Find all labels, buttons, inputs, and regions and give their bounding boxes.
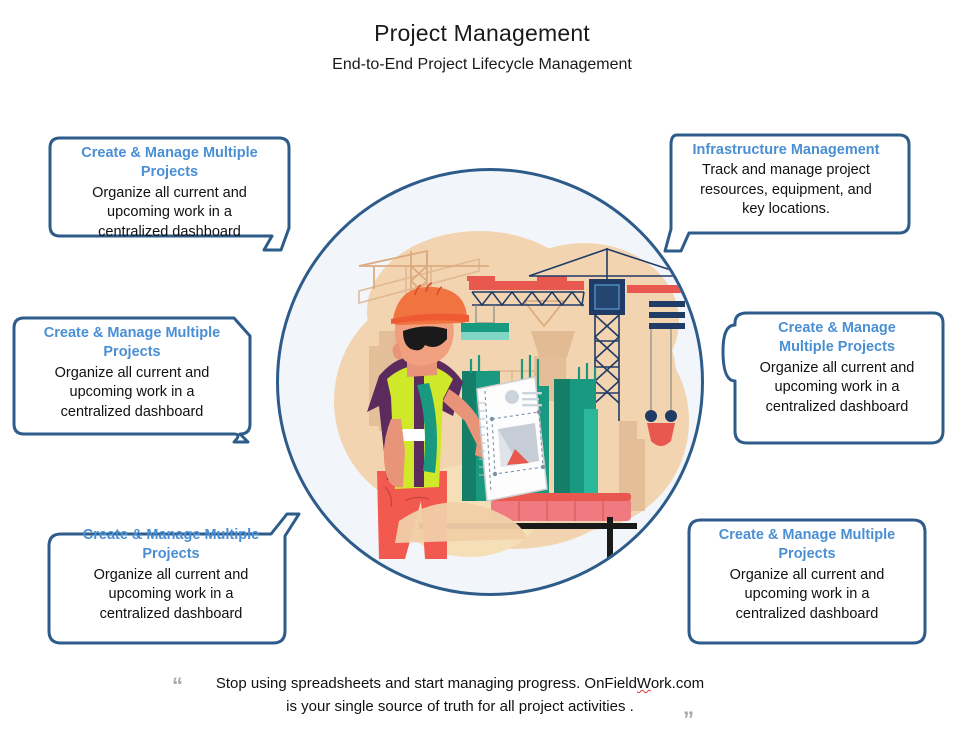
slide-canvas: Project Management End-to-End Project Li… xyxy=(0,0,964,734)
callout-heading: Create & Manage Multiple Projects xyxy=(697,526,917,565)
callout-bottom-right[interactable]: Create & Manage Multiple Projects Organi… xyxy=(687,518,927,645)
quote-line-2: is your single source of truth for all p… xyxy=(150,695,770,718)
quote-line1-after: ork.com xyxy=(651,675,704,692)
callout-body: Organize all current and upcoming work i… xyxy=(58,184,281,243)
center-illustration-circle xyxy=(276,168,704,596)
page-title: Project Management xyxy=(0,20,964,47)
callout-body: Track and manage project resources, equi… xyxy=(671,161,901,220)
callout-heading: Infrastructure Management xyxy=(671,141,901,160)
callout-bottom-left[interactable]: Create & Manage Multiple Projects Organi… xyxy=(47,518,295,645)
callout-top-left[interactable]: Create & Manage Multiple Projects Organi… xyxy=(48,136,291,252)
callout-heading: Create & Manage Multiple Projects xyxy=(57,526,285,565)
callout-heading: Create & Manage Multiple Projects xyxy=(58,144,281,183)
callout-body: Organize all current and upcoming work i… xyxy=(57,566,285,625)
footer-quote: “ Stop using spreadsheets and start mana… xyxy=(150,672,770,719)
quote-misspelled-word: W xyxy=(637,675,651,692)
quote-line1-before: Stop using spreadsheets and start managi… xyxy=(216,675,637,692)
page-subtitle: End-to-End Project Lifecycle Management xyxy=(0,56,964,74)
callout-mid-left[interactable]: Create & Manage Multiple Projects Organi… xyxy=(12,316,252,444)
callout-heading: Create & Manage Multiple Projects xyxy=(737,319,937,358)
quote-line-1: Stop using spreadsheets and start managi… xyxy=(150,672,770,695)
callout-top-right[interactable]: Infrastructure Management Track and mana… xyxy=(661,133,911,245)
callout-heading: Create & Manage Multiple Projects xyxy=(22,324,242,363)
construction-worker-reading-blueprint-icon xyxy=(279,171,704,596)
callout-body: Organize all current and upcoming work i… xyxy=(737,359,937,418)
callout-mid-right[interactable]: Create & Manage Multiple Projects Organi… xyxy=(727,311,947,446)
callout-body: Organize all current and upcoming work i… xyxy=(22,364,242,423)
callout-body: Organize all current and upcoming work i… xyxy=(697,566,917,625)
